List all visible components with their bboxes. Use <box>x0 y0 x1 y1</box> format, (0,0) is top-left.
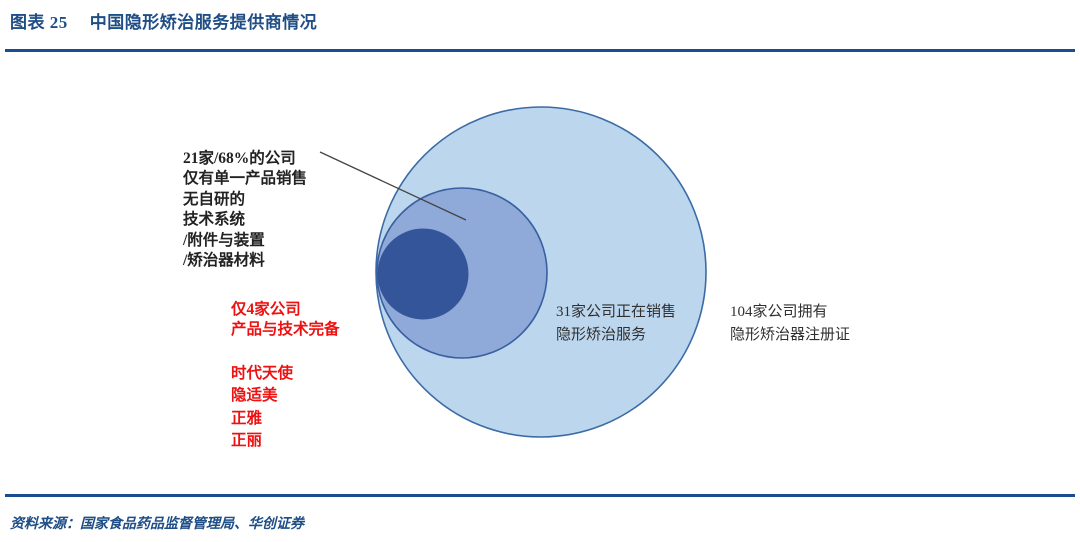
annotation-single-product: 21家/68%的公司 仅有单一产品销售 无自研的 技术系统 /附件与装置 /矫治… <box>183 149 307 272</box>
figure-header: 图表 25中国隐形矫治服务提供商情况 <box>0 0 1080 50</box>
venn-circles-svg <box>0 50 1080 494</box>
annotation-complete-four: 仅4家公司 产品与技术完备 <box>231 300 340 341</box>
annotation-selling-31: 31家公司正在销售 隐形矫治服务 <box>556 301 676 348</box>
circle-complete-4[interactable] <box>378 229 468 319</box>
figure-number: 图表 25 <box>10 8 68 33</box>
annotation-registered-104: 104家公司拥有 隐形矫治器注册证 <box>730 301 850 348</box>
annotation-brand-list: 时代天使 隐适美 正雅 正丽 <box>231 363 293 453</box>
footer-divider <box>5 494 1075 497</box>
source-note: 资料来源：国家食品药品监督管理局、华创证券 <box>10 513 304 533</box>
venn-diagram: 21家/68%的公司 仅有单一产品销售 无自研的 技术系统 /附件与装置 /矫治… <box>0 50 1080 494</box>
figure-title-text: 中国隐形矫治服务提供商情况 <box>90 13 318 32</box>
page-title: 图表 25中国隐形矫治服务提供商情况 <box>10 8 317 33</box>
